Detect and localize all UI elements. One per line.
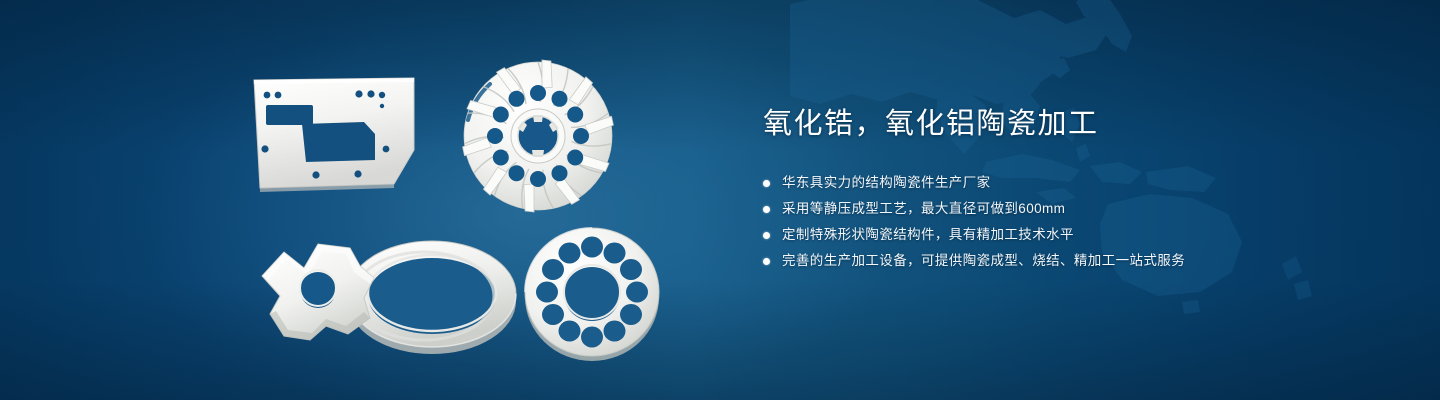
list-item: 采用等静压成型工艺，最大直径可做到600mm <box>763 198 1383 220</box>
feature-text: 完善的生产加工设备，可提供陶瓷成型、烧结、精加工一站式服务 <box>782 250 1185 272</box>
list-item: 定制特殊形状陶瓷结构件，具有精加工技术水平 <box>763 224 1383 246</box>
feature-text: 华东具实力的结构陶瓷件生产厂家 <box>782 172 991 194</box>
product-showcase <box>0 0 760 400</box>
product-ceramic-disc <box>512 218 672 368</box>
feature-list: 华东具实力的结构陶瓷件生产厂家 采用等静压成型工艺，最大直径可做到600mm 定… <box>763 172 1383 272</box>
page-title: 氧化锆，氧化铝陶瓷加工 <box>763 104 1383 144</box>
feature-text: 定制特殊形状陶瓷结构件，具有精加工技术水平 <box>782 224 1074 246</box>
bullet-dot-icon <box>763 258 770 265</box>
feature-text: 采用等静压成型工艺，最大直径可做到600mm <box>782 198 1065 220</box>
product-ceramic-impeller <box>448 46 628 226</box>
bullet-dot-icon <box>763 232 770 239</box>
bullet-dot-icon <box>763 180 770 187</box>
marketing-copy: 氧化锆，氧化铝陶瓷加工 华东具实力的结构陶瓷件生产厂家 采用等静压成型工艺，最大… <box>763 104 1383 276</box>
product-ceramic-cross-and-ring <box>246 222 526 362</box>
bullet-dot-icon <box>763 206 770 213</box>
hero-banner: 氧化锆，氧化铝陶瓷加工 华东具实力的结构陶瓷件生产厂家 采用等静压成型工艺，最大… <box>0 0 1440 400</box>
product-ceramic-plate <box>248 72 420 196</box>
list-item: 完善的生产加工设备，可提供陶瓷成型、烧结、精加工一站式服务 <box>763 250 1383 272</box>
list-item: 华东具实力的结构陶瓷件生产厂家 <box>763 172 1383 194</box>
